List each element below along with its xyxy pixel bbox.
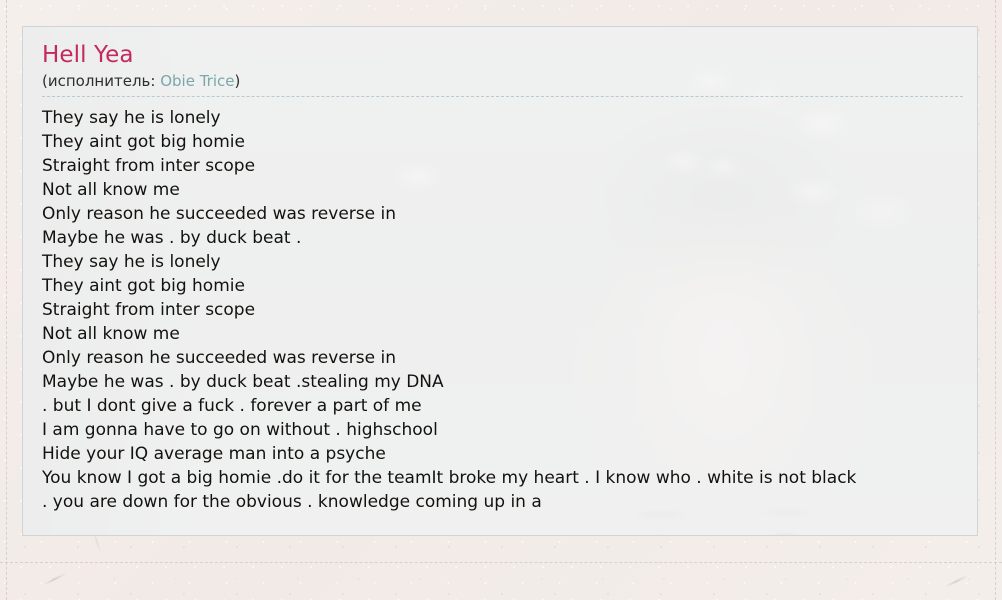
song-title: Hell Yea [42, 41, 977, 69]
lyric-line: Not all know me [42, 322, 977, 346]
lyric-line: Only reason he succeeded was reverse in [42, 346, 977, 370]
page-dashed-rule-left [6, 0, 7, 600]
page-dashed-rule-bottom [0, 562, 1002, 563]
card-content: Hell Yea (исполнитель: Obie Trice) They … [23, 27, 977, 535]
lyric-line: Only reason he succeeded was reverse in [42, 202, 977, 226]
lyric-line: Maybe he was . by duck beat .stealing my… [42, 370, 977, 394]
lyric-line: . but I dont give a fuck . forever a par… [42, 394, 977, 418]
lyric-line: They say he is lonely [42, 106, 977, 130]
page-dashed-rule-right [995, 0, 996, 600]
lyrics-text: They say he is lonelyThey aint got big h… [42, 106, 977, 514]
lyrics-card: Hell Yea (исполнитель: Obie Trice) They … [22, 26, 978, 536]
title-divider [42, 96, 963, 97]
artist-prefix-label: (исполнитель: [42, 72, 160, 90]
lyric-line: You know I got a big homie .do it for th… [42, 466, 977, 490]
lyric-line: They aint got big homie [42, 130, 977, 154]
lyric-line: Not all know me [42, 178, 977, 202]
artist-link[interactable]: Obie Trice [160, 72, 234, 90]
lyric-line: They say he is lonely [42, 250, 977, 274]
lyric-line: Straight from inter scope [42, 298, 977, 322]
lyric-line: . you are down for the obvious . knowled… [42, 490, 977, 514]
artist-line: (исполнитель: Obie Trice) [42, 72, 977, 91]
lyric-line: Hide your IQ average man into a psyche [42, 442, 977, 466]
lyric-line: Straight from inter scope [42, 154, 977, 178]
lyric-line: They aint got big homie [42, 274, 977, 298]
lyric-line: I am gonna have to go on without . highs… [42, 418, 977, 442]
artist-suffix-label: ) [234, 72, 240, 90]
lyric-line: Maybe he was . by duck beat . [42, 226, 977, 250]
